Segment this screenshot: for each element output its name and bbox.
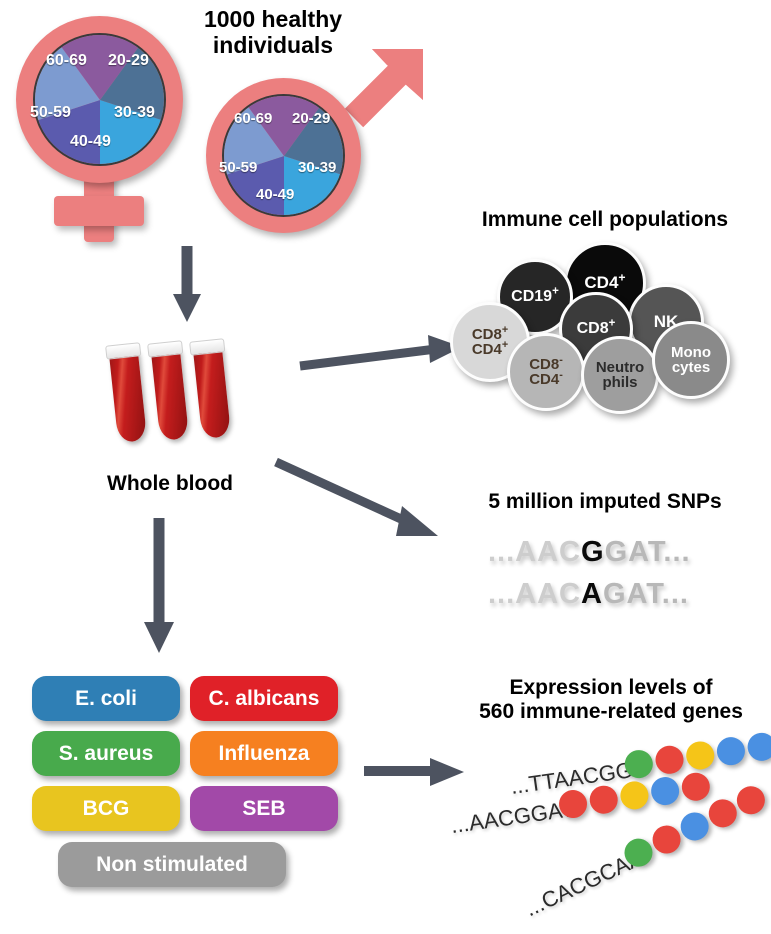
- stimulus-c-albicans[interactable]: C. albicans: [190, 676, 338, 721]
- snp-prefix: ...AAC: [488, 536, 581, 568]
- dna-bead: [649, 775, 681, 807]
- dna-bead: [588, 784, 620, 816]
- pie-label-40-49-male: 40-49: [256, 186, 294, 203]
- immune-cell-cluster: CD4+ CD19+ NK CD8+ CD8+ CD4+ CD8- CD4- N…: [440, 240, 771, 410]
- blood-tube-fill: [109, 350, 147, 443]
- dna-bead: [654, 744, 686, 776]
- immune-cell-populations-title: Immune cell populations: [440, 208, 770, 232]
- expression-title-line1: Expression levels of: [452, 676, 770, 700]
- whole-blood-label: Whole blood: [80, 472, 260, 496]
- pie-label-60-69-female: 60-69: [46, 52, 87, 70]
- snp-sequence-row: ...AACGGAT...: [488, 536, 691, 569]
- immune-cell-monocytes: Mono cytes: [652, 321, 730, 399]
- stimulus-e-coli[interactable]: E. coli: [32, 676, 180, 721]
- pie-label-50-59-female: 50-59: [30, 104, 71, 122]
- pie-label-30-39-female: 30-39: [114, 104, 155, 122]
- stimulus-label: Influenza: [218, 742, 309, 766]
- female-venus-symbol: 20-29 30-39 40-49 50-59 60-69: [8, 12, 198, 242]
- blood-tube: [192, 338, 231, 438]
- blood-tube-fill: [151, 348, 189, 441]
- expression-levels-title: Expression levels of 560 immune-related …: [452, 676, 770, 724]
- pie-label-30-39-male: 30-39: [298, 159, 336, 176]
- dna-bead: [684, 740, 716, 772]
- dna-bead: [680, 771, 712, 803]
- snp-variant-allele: A: [581, 578, 603, 610]
- pie-label-20-29-male: 20-29: [292, 110, 330, 127]
- blood-tube: [150, 340, 189, 440]
- stimulus-label: BCG: [83, 797, 130, 821]
- immune-cell-label-line1: Mono: [671, 345, 711, 360]
- arrow-blood-to-snps: [272, 448, 472, 558]
- stimulus-s-aureus[interactable]: S. aureus: [32, 731, 180, 776]
- dna-strands-group: ...TTAACGG ...AACGGAT ...CACGCAA: [430, 745, 771, 910]
- stimulus-bcg[interactable]: BCG: [32, 786, 180, 831]
- stimulus-label: C. albicans: [209, 687, 320, 711]
- arrow-blood-to-stimuli: [140, 518, 200, 658]
- stimulus-label: SEB: [242, 797, 285, 821]
- snp-sequence-row: ...AACAGAT...: [488, 578, 689, 611]
- snp-suffix: GAT...: [605, 536, 691, 568]
- pie-label-60-69-male: 60-69: [234, 110, 272, 127]
- stimuli-panel: E. coli C. albicans S. aureus Influenza …: [30, 676, 350, 906]
- whole-blood-tubes: [104, 340, 244, 455]
- snp-variant-allele: G: [581, 536, 605, 568]
- stimulus-influenza[interactable]: Influenza: [190, 731, 338, 776]
- stimulus-label: Non stimulated: [96, 853, 248, 877]
- immune-cell-label-line2: cytes: [672, 360, 710, 375]
- cohort-title-line1: 1000 healthy: [168, 6, 378, 32]
- dna-bead: [715, 735, 747, 767]
- stimulus-seb[interactable]: SEB: [190, 786, 338, 831]
- snp-prefix: ...AAC: [488, 578, 581, 610]
- pie-label-50-59-male: 50-59: [219, 159, 257, 176]
- immune-cell-label-line1: Neutro: [596, 360, 644, 375]
- blood-tube-fill: [193, 346, 231, 439]
- pie-label-40-49-female: 40-49: [70, 133, 111, 151]
- female-symbol-crossbar: [54, 196, 144, 226]
- immune-cell-label-line2: phils: [602, 375, 637, 390]
- immune-cell-neutrophils: Neutro phils: [581, 336, 659, 414]
- immune-cell-cd8-cd4-double-negative: CD8- CD4-: [507, 333, 585, 411]
- stimulus-label: S. aureus: [59, 742, 154, 766]
- immune-cell-label: CD4+: [584, 274, 625, 291]
- immune-cell-label-line2: CD4-: [529, 372, 563, 387]
- snp-suffix: GAT...: [603, 578, 689, 610]
- expression-title-line2: 560 immune-related genes: [452, 700, 770, 724]
- dna-sequence-label: ...AACGGAT: [449, 796, 576, 839]
- male-mars-symbol: 20-29 30-39 40-49 50-59 60-69: [196, 58, 426, 243]
- blood-tube: [108, 342, 147, 442]
- immune-cell-label-line2: CD4+: [472, 342, 508, 357]
- immune-cell-label-line1: CD8-: [529, 357, 563, 372]
- dna-bead: [746, 731, 771, 763]
- immune-cell-label: CD19+: [511, 289, 559, 305]
- pie-label-20-29-female: 20-29: [108, 52, 149, 70]
- arrow-cohort-to-blood: [165, 246, 225, 326]
- stimulus-non-stimulated[interactable]: Non stimulated: [58, 842, 286, 887]
- dna-bead: [619, 780, 651, 812]
- immune-cell-label: CD8+: [577, 321, 616, 337]
- stimulus-label: E. coli: [75, 687, 137, 711]
- snps-title: 5 million imputed SNPs: [450, 490, 760, 514]
